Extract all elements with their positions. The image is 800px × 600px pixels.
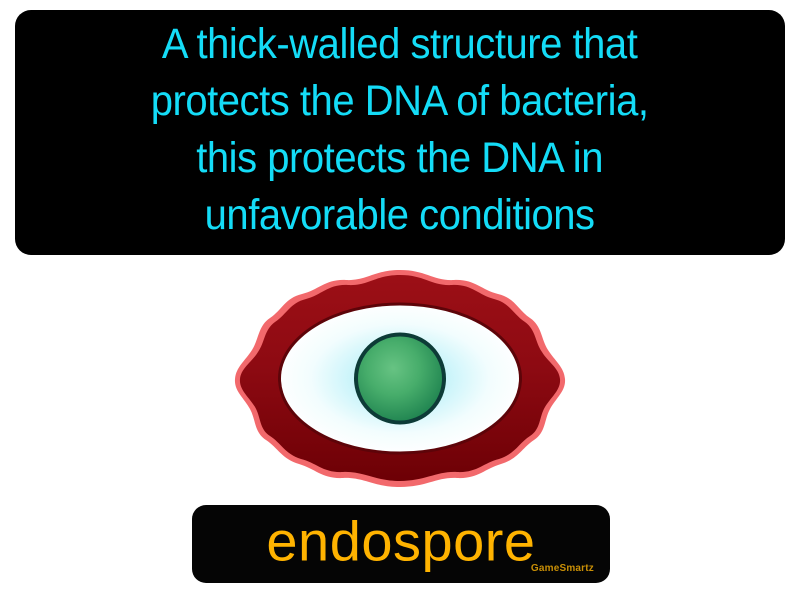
definition-text: A thick-walled structure that protects t… xyxy=(151,16,649,244)
dna-core xyxy=(358,336,442,420)
definition-card: A thick-walled structure that protects t… xyxy=(15,10,785,255)
watermark-label: GameSmartz xyxy=(531,563,594,574)
term-text: endospore xyxy=(192,513,610,571)
endospore-cell-icon xyxy=(230,266,570,491)
term-card: endospore GameSmartz xyxy=(192,505,610,583)
illustration-area xyxy=(0,258,800,498)
